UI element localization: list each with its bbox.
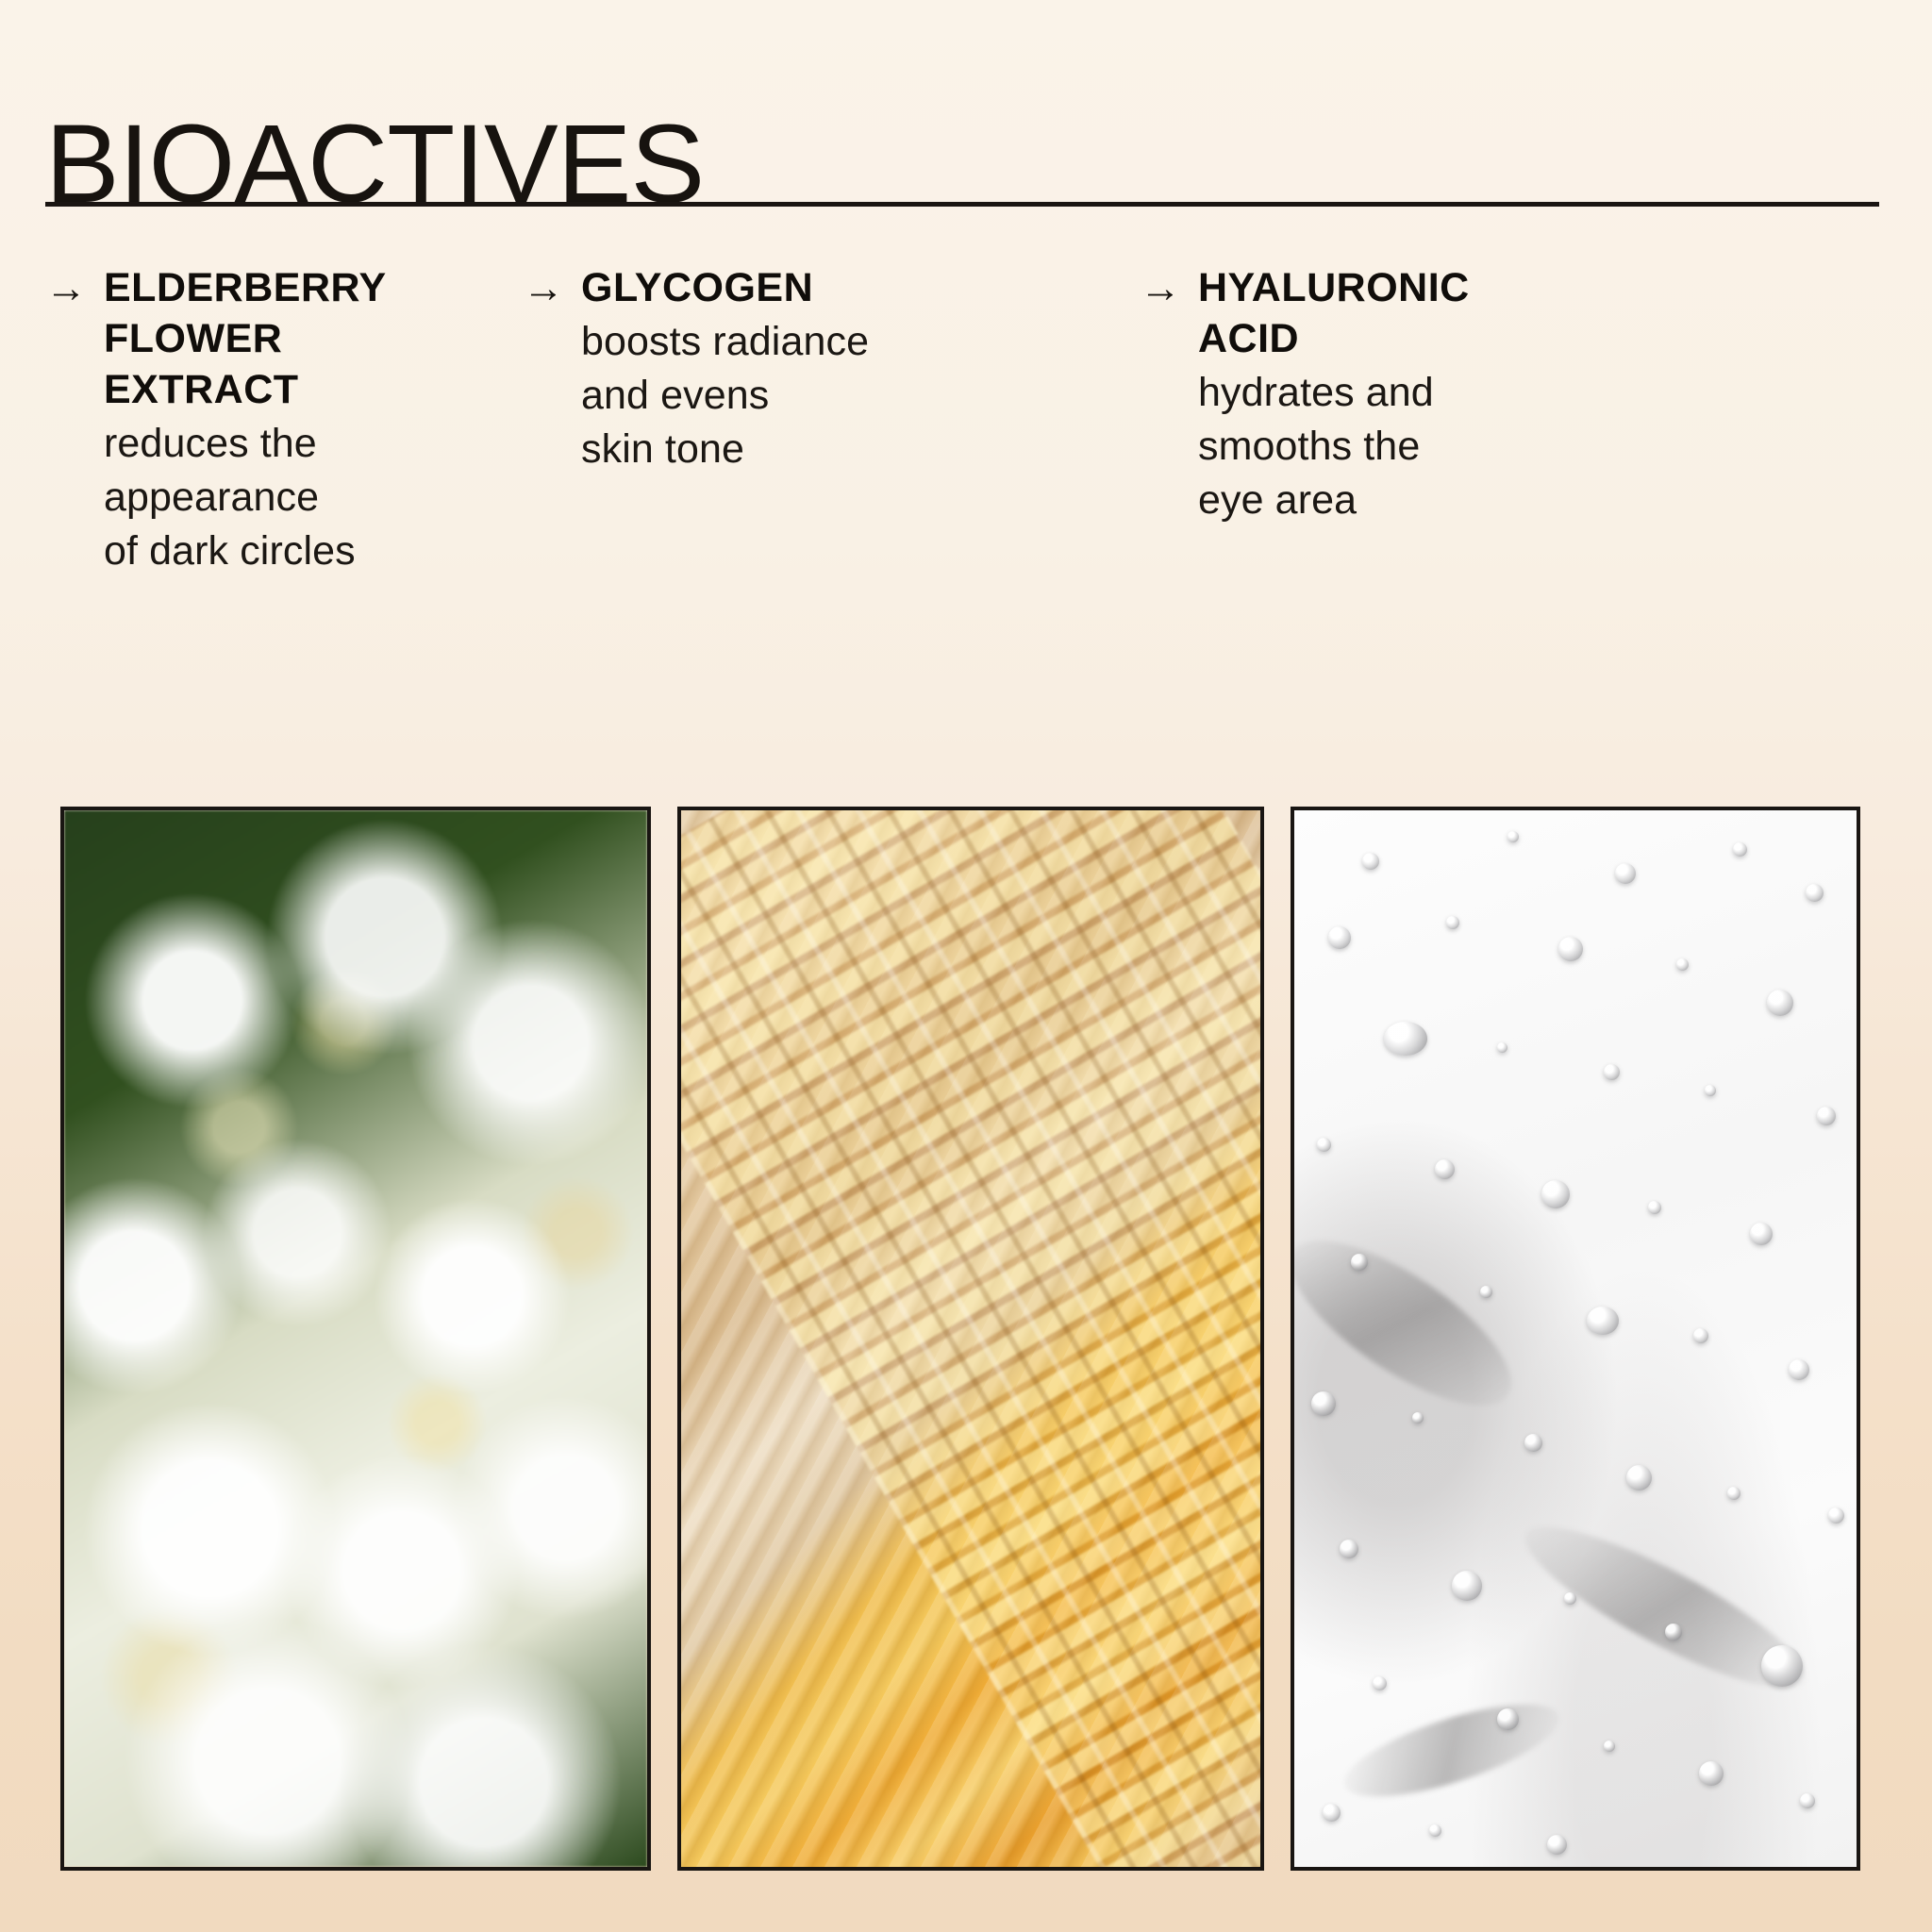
gel-bubble <box>1699 1761 1724 1786</box>
gel-bubble <box>1604 1064 1620 1080</box>
ingredient-description: hydrates and smooths the eye area <box>1198 366 1630 527</box>
gel-bubble <box>1547 1835 1567 1855</box>
gel-bubble <box>1362 853 1379 870</box>
gel-bubble <box>1412 1412 1424 1424</box>
gel-bubble <box>1750 1223 1773 1245</box>
gel-bubble <box>1767 990 1793 1016</box>
gel-bubble <box>1328 926 1351 949</box>
gel-bubble <box>1828 1507 1844 1524</box>
gel-bubble <box>1817 1107 1836 1125</box>
image-panel-elderflower <box>60 807 651 1871</box>
gel-bubble <box>1676 958 1689 971</box>
gel-bubble <box>1789 1359 1809 1380</box>
gel-bubble <box>1800 1793 1815 1808</box>
ingredient-text-block: GLYCOGEN boosts radiance and evens skin … <box>581 262 1013 476</box>
ingredient-description: boosts radiance and evens skin tone <box>581 315 1013 476</box>
ingredient-column-elderberry: → ELDERBERRY FLOWER EXTRACT reduces the … <box>45 262 517 578</box>
gel-bubble <box>1615 863 1636 884</box>
gel-bubble <box>1351 1254 1368 1271</box>
ingredient-text-block: HYALURONIC ACID hydrates and smooths the… <box>1198 262 1630 527</box>
ingredient-name: HYALURONIC ACID <box>1198 262 1630 364</box>
gel-bubble <box>1558 937 1583 961</box>
ingredient-description: reduces the appearance of dark circles <box>104 417 517 578</box>
gel-bubble <box>1727 1487 1740 1500</box>
gel-bubble <box>1733 842 1747 857</box>
gel-bubble <box>1761 1645 1803 1687</box>
title-divider <box>45 202 1879 207</box>
corn-photo <box>681 810 1260 1867</box>
elderflower-photo <box>64 810 647 1867</box>
gel-bubble <box>1446 916 1459 929</box>
gel-bubble <box>1497 1042 1507 1053</box>
arrow-right-icon: → <box>45 262 104 313</box>
gel-bubble <box>1435 1159 1455 1179</box>
gel-bubble <box>1604 1740 1615 1752</box>
gel-bubble <box>1564 1592 1576 1605</box>
gel-bubble <box>1429 1824 1441 1837</box>
gel-bubble <box>1384 1022 1427 1056</box>
arrow-right-icon: → <box>523 262 581 313</box>
gel-bubble <box>1497 1708 1519 1730</box>
ingredient-column-glycogen: → GLYCOGEN boosts radiance and evens ski… <box>523 262 1013 578</box>
ingredient-columns: → ELDERBERRY FLOWER EXTRACT reduces the … <box>45 262 1887 578</box>
gel-bubble <box>1311 1391 1336 1416</box>
gel-bubble <box>1317 1138 1331 1152</box>
image-panel-corn <box>677 807 1264 1871</box>
gel-bubble <box>1806 884 1824 902</box>
gel-streak <box>1335 1686 1568 1816</box>
gel-bubble <box>1480 1286 1492 1298</box>
gel-bubble <box>1373 1676 1387 1690</box>
ingredient-name: ELDERBERRY FLOWER EXTRACT <box>104 262 517 415</box>
gel-bubble <box>1693 1328 1708 1343</box>
gel-bubbles-photo <box>1294 810 1857 1867</box>
gel-bubble <box>1323 1804 1341 1822</box>
gel-bubble <box>1524 1434 1542 1452</box>
gel-bubble <box>1648 1201 1661 1214</box>
gel-bubble <box>1340 1540 1358 1558</box>
ingredient-text-block: ELDERBERRY FLOWER EXTRACT reduces the ap… <box>104 262 517 578</box>
gel-bubble <box>1705 1085 1716 1096</box>
ingredient-column-hyaluronic-acid: → HYALURONIC ACID hydrates and smooths t… <box>1140 262 1630 578</box>
bioactives-infographic: BIOACTIVES → ELDERBERRY FLOWER EXTRACT r… <box>0 0 1932 1932</box>
gel-bubble <box>1626 1465 1652 1491</box>
gel-bubble <box>1452 1571 1482 1601</box>
gel-bubble <box>1587 1307 1619 1335</box>
image-panel-gel <box>1291 807 1860 1871</box>
ingredient-name: GLYCOGEN <box>581 262 1013 313</box>
gel-bubble <box>1507 831 1519 842</box>
arrow-right-icon: → <box>1140 262 1198 313</box>
gel-bubble <box>1541 1180 1570 1208</box>
